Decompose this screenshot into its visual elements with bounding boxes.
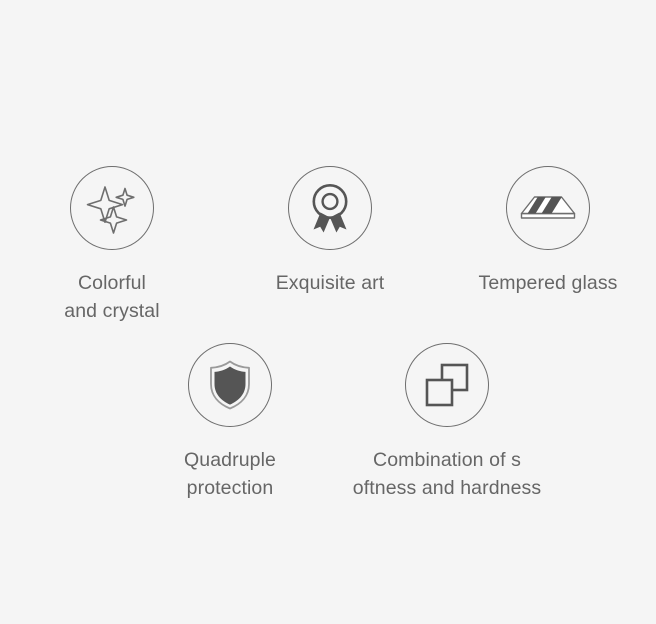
feature-item-exquisite-art: Exquisite art (220, 166, 440, 297)
feature-label: Tempered glass (478, 269, 617, 297)
feature-label: Exquisite art (276, 269, 385, 297)
feature-highlights-board: Colorful and crystal Exquisite art (0, 0, 656, 624)
feature-item-softness-and-hardness: Combination of s oftness and hardness (337, 343, 557, 502)
feature-label: Quadruple protection (184, 446, 276, 502)
glass-sheet-icon (520, 191, 576, 225)
feature-item-quadruple-protection: Quadruple protection (120, 343, 340, 502)
feature-item-tempered-glass: Tempered glass (438, 166, 656, 297)
award-medal-icon (305, 182, 355, 234)
icon-circle-frame (288, 166, 372, 250)
icon-circle-frame (405, 343, 489, 427)
icon-circle-frame (70, 166, 154, 250)
feature-item-colorful-and-crystal: Colorful and crystal (2, 166, 222, 325)
shield-icon (208, 360, 252, 410)
overlapping-squares-icon (423, 361, 471, 409)
sparkles-icon (85, 181, 139, 235)
feature-label: Colorful and crystal (64, 269, 159, 325)
icon-circle-frame (506, 166, 590, 250)
icon-circle-frame (188, 343, 272, 427)
feature-label: Combination of s oftness and hardness (353, 446, 541, 502)
